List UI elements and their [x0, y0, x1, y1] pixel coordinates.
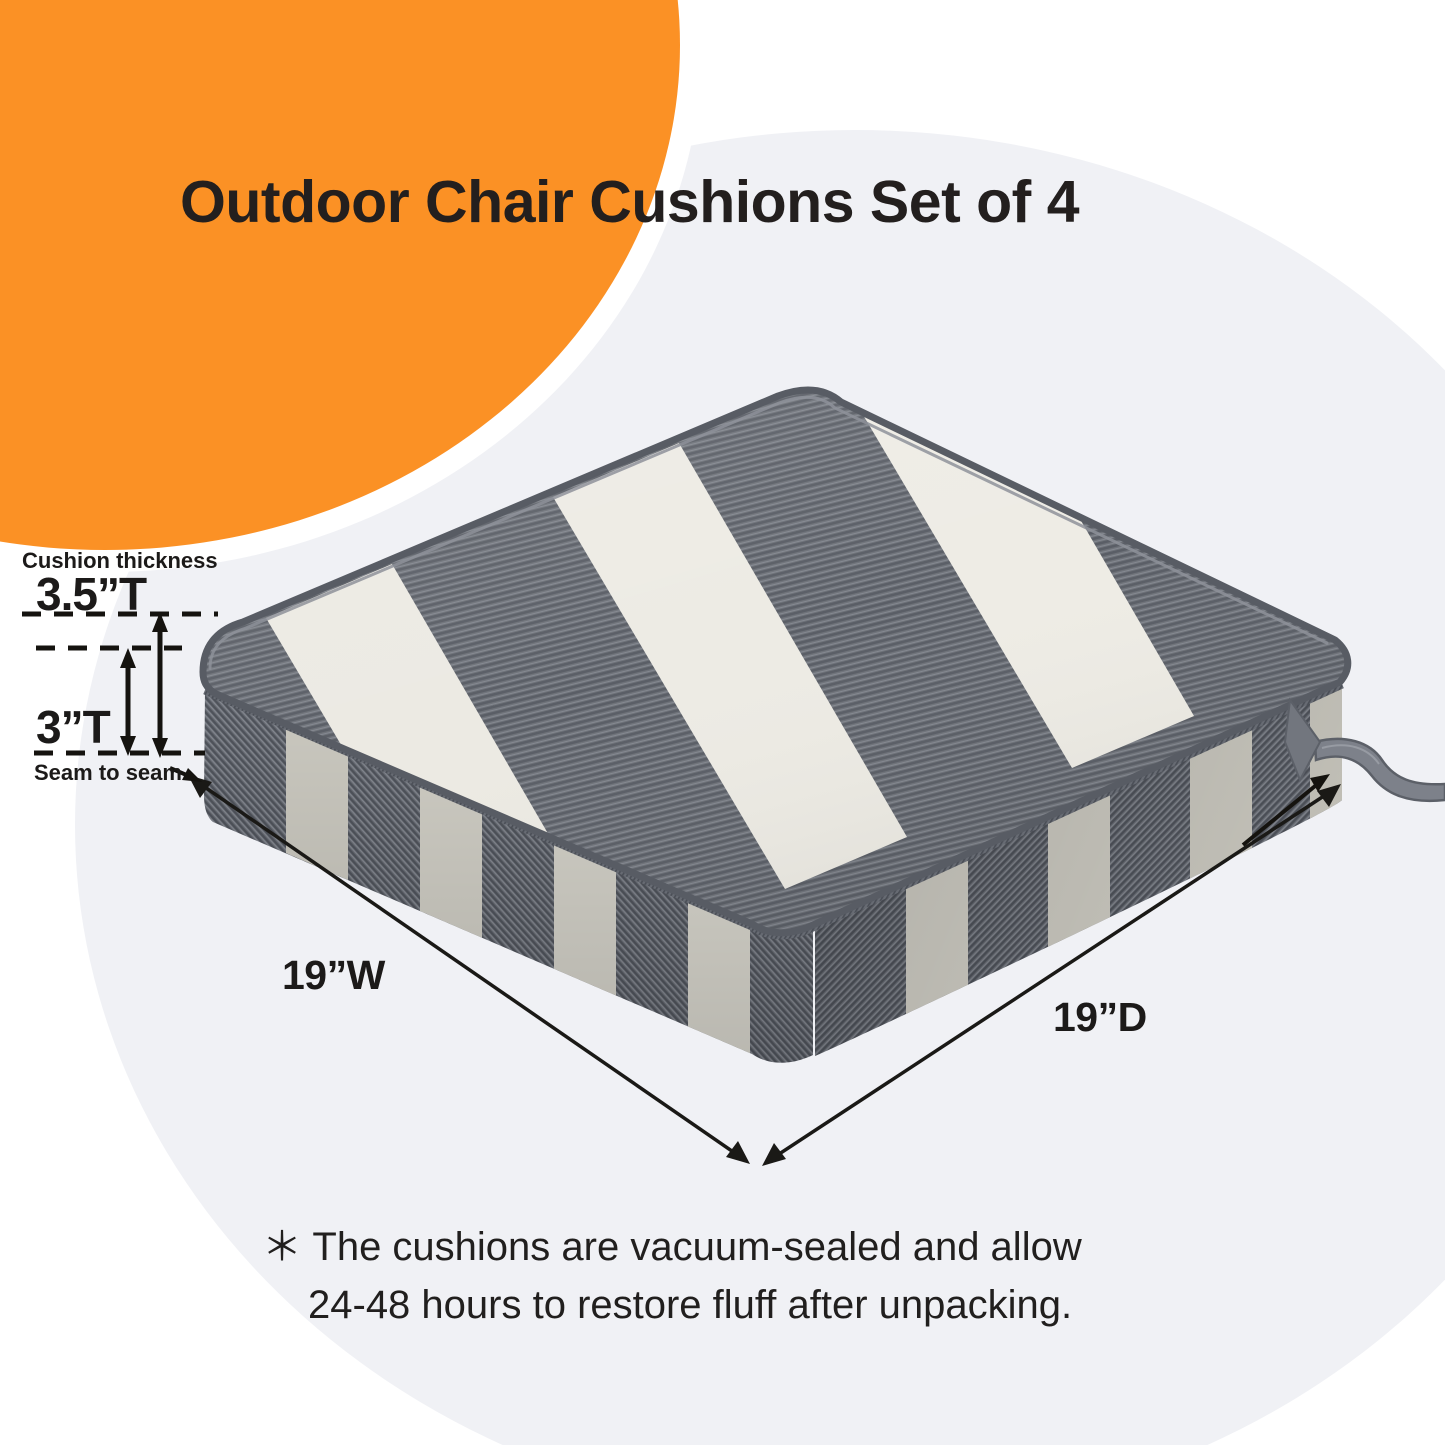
seam-thickness-value: 3”T [36, 700, 110, 754]
footnote-line-1: ＊ The cushions are vacuum-sealed and all… [262, 1218, 1212, 1276]
infographic-page: Outdoor Chair Cushions Set of 4 [0, 0, 1445, 1445]
page-title: Outdoor Chair Cushions Set of 4 [180, 168, 1079, 236]
arrow-total-thickness [152, 612, 168, 758]
total-thickness-value: 3.5”T [36, 567, 146, 621]
width-label: 19”W [282, 952, 385, 999]
footnote-line-2: 24-48 hours to restore fluff after unpac… [262, 1276, 1212, 1334]
footnote: ＊ The cushions are vacuum-sealed and all… [262, 1218, 1212, 1334]
depth-label: 19”D [1053, 994, 1147, 1041]
arrow-seam-thickness [120, 648, 136, 756]
seam-to-seam-label: Seam to seam [34, 760, 182, 786]
